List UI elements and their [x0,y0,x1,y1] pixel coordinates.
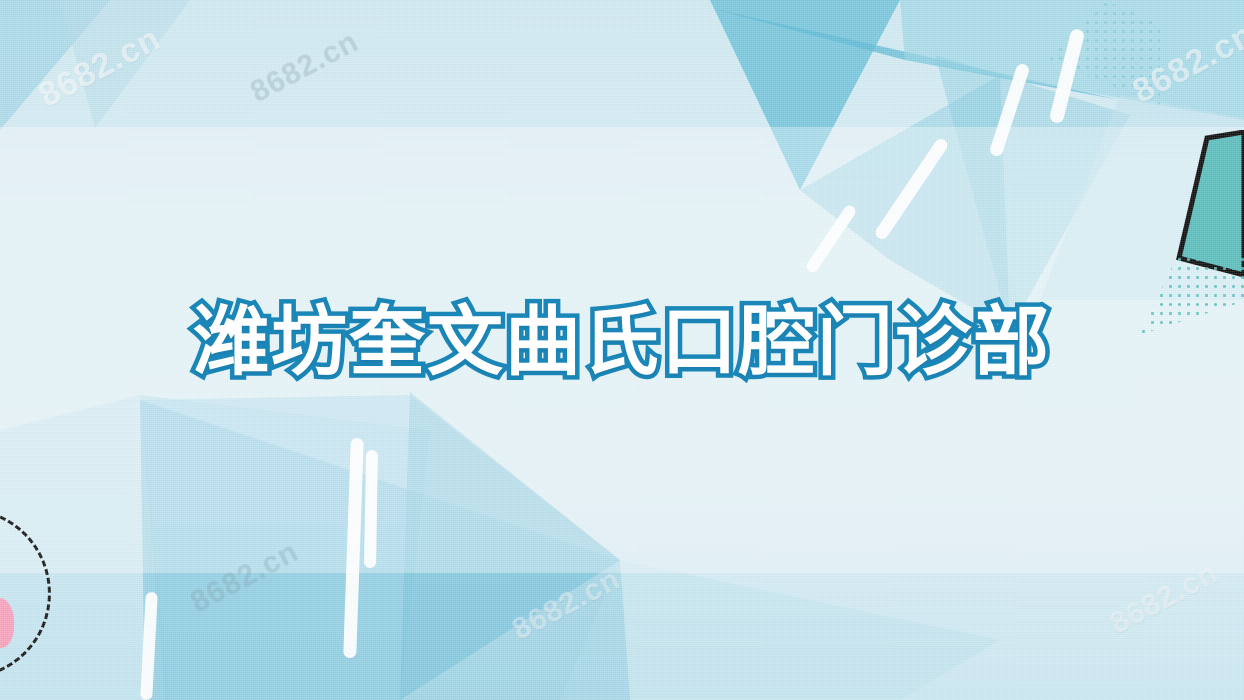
teal-parallelogram [1179,132,1244,275]
band-middle [0,127,1244,573]
white-bar-7 [364,450,378,568]
poster-canvas: 8682.cn 8682.cn 8682.cn 8682.cn 8682.cn … [0,0,1244,700]
